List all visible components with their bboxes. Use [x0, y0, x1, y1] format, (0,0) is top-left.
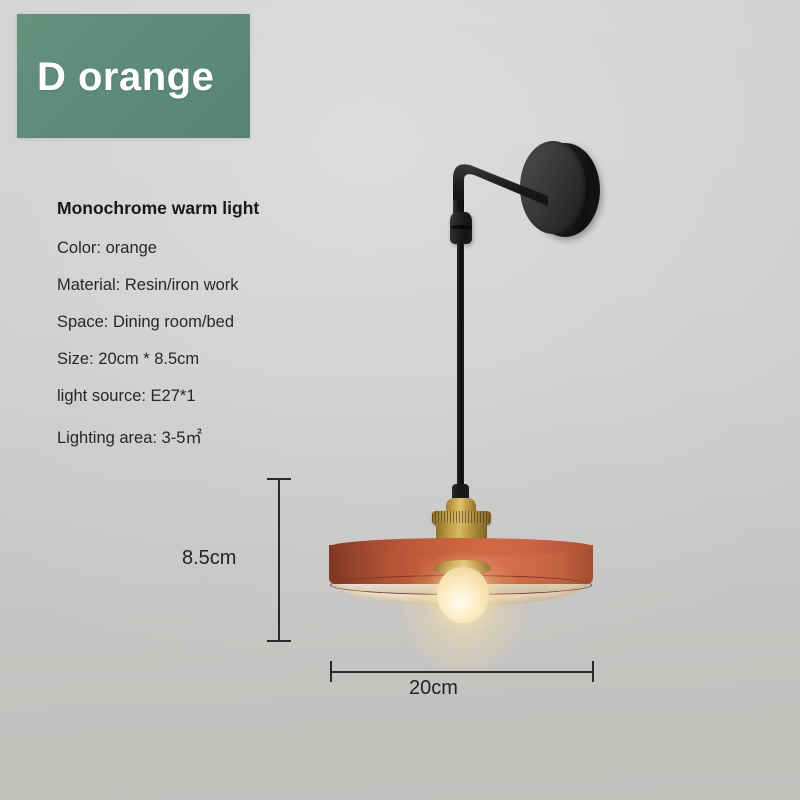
hanging-cord [457, 240, 464, 492]
dim-v-tick-bottom [267, 640, 291, 642]
spec-title: Monochrome warm light [57, 198, 357, 219]
spec-line-lighting-area: Lighting area: 3-5㎡ [57, 424, 357, 448]
height-dimension-line [262, 470, 298, 650]
color-variant-banner: D orange [17, 14, 250, 138]
light-bulb [437, 567, 489, 623]
width-dimension-line [320, 655, 606, 715]
shade-top-surface [329, 538, 593, 556]
dim-h-tick-left [330, 661, 332, 682]
specification-list: Monochrome warm light Color: orange Mate… [57, 198, 357, 466]
width-dimension-label: 20cm [409, 677, 458, 700]
dim-v-shaft [278, 478, 280, 642]
spec-line-size: Size: 20cm * 8.5cm [57, 350, 357, 369]
spec-line-color: Color: orange [57, 239, 357, 258]
dim-h-tick-right [592, 661, 594, 682]
height-dimension-label: 8.5cm [182, 547, 236, 570]
dim-h-shaft [330, 671, 594, 673]
dim-v-tick-top [267, 478, 291, 480]
product-photo: D orange Monochrome warm light Color: or… [0, 0, 800, 800]
spec-line-light-source: light source: E27*1 [57, 387, 357, 406]
color-variant-label: D orange [37, 55, 214, 100]
cord-grip-ring [451, 225, 471, 229]
spec-line-space: Space: Dining room/bed [57, 313, 357, 332]
spec-line-material: Material: Resin/iron work [57, 276, 357, 295]
